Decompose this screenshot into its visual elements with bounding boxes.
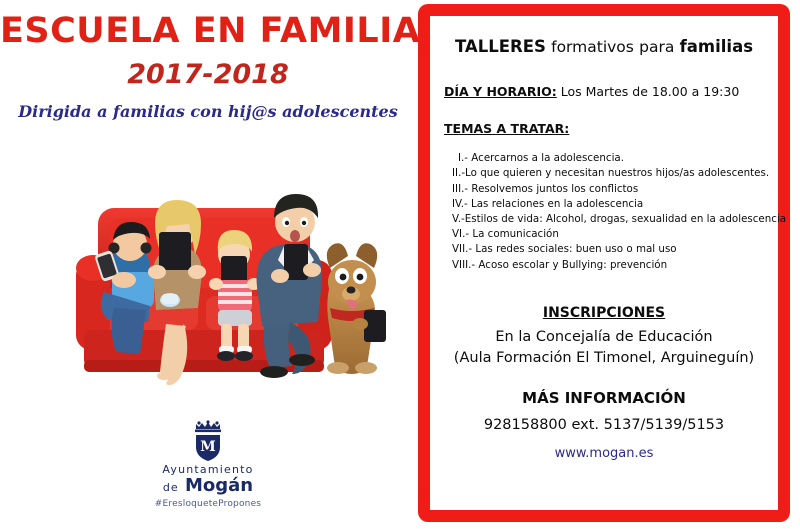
logo-de-word: de	[163, 481, 179, 494]
page-title: ESCUELA EN FAMILIAII	[0, 14, 416, 49]
topics-label-wrap: TEMAS A TRATAR:	[444, 99, 764, 137]
logo-hashtag: #EresloquetePropones	[0, 499, 416, 509]
audience-subtitle: Dirigida a familias con hij@s adolescent…	[0, 104, 416, 120]
heading-talleres: TALLERES	[455, 37, 546, 56]
coat-of-arms-icon: M	[186, 418, 230, 462]
workshop-heading: TALLERES formativos para familias	[444, 38, 764, 56]
schedule-row: DÍA Y HORARIO: Los Martes de 18.00 a 19:…	[444, 84, 764, 99]
list-item: VIII.- Acoso escolar y Bullying: prevenc…	[452, 258, 764, 273]
list-item: III.- Resolvemos juntos los conflictos	[452, 182, 764, 197]
registration-title: INSCRIPCIONES	[444, 305, 764, 323]
contact-phone: 928158800 ext. 5137/5139/5153	[444, 414, 764, 436]
dog-figure	[327, 243, 386, 374]
info-panel: TALLERES formativos para familias DÍA Y …	[418, 4, 790, 522]
registration-venue: (Aula Formación El Timonel, Arguineguín)	[444, 348, 764, 368]
topics-label: TEMAS A TRATAR:	[444, 121, 569, 136]
svg-text:M: M	[200, 439, 216, 455]
registration-location: En la Concejalía de Educación	[444, 327, 764, 348]
list-item: IV.- Las relaciones en la adolescencia	[452, 197, 764, 212]
topics-list: I.- Acercarnos a la adolescencia. II.-Lo…	[444, 151, 764, 273]
logo-mogan-word: Mogán	[185, 475, 253, 496]
year-range-subtitle: 2017-2018	[0, 61, 416, 88]
family-on-sofa-illustration	[58, 160, 404, 400]
list-item: VI.- La comunicación	[452, 227, 764, 242]
info-panel-content: TALLERES formativos para familias DÍA Y …	[430, 16, 778, 510]
poster-canvas: ESCUELA EN FAMILIAII 2017-2018 Dirigida …	[0, 0, 800, 529]
list-item: VII.- Las redes sociales: buen uso o mal…	[452, 242, 764, 257]
website-link[interactable]: www.mogan.es	[444, 444, 764, 464]
schedule-value: Los Martes de 18.00 a 19:30	[561, 84, 740, 99]
schedule-label: DÍA Y HORARIO:	[444, 84, 557, 99]
list-item: II.-Lo que quieren y necesitan nuestros …	[452, 166, 764, 181]
logo-line-mogan: de Mogán	[0, 476, 416, 497]
heading-familias: familias	[680, 37, 753, 56]
heading-para: para	[639, 38, 674, 56]
heading-formativos: formativos	[551, 38, 634, 56]
mogan-logo: M Ayuntamiento de Mogán #EresloqueteProp…	[0, 418, 416, 509]
more-info-title: MÁS INFORMACIÓN	[444, 389, 764, 409]
list-item: V.-Estilos de vida: Alcohol, drogas, sex…	[452, 212, 764, 227]
list-item: I.- Acercarnos a la adolescencia.	[452, 151, 764, 166]
left-column: ESCUELA EN FAMILIAII 2017-2018 Dirigida …	[0, 0, 416, 529]
registration-block: INSCRIPCIONES En la Concejalía de Educac…	[444, 305, 764, 369]
more-info-block: MÁS INFORMACIÓN 928158800 ext. 5137/5139…	[444, 389, 764, 464]
